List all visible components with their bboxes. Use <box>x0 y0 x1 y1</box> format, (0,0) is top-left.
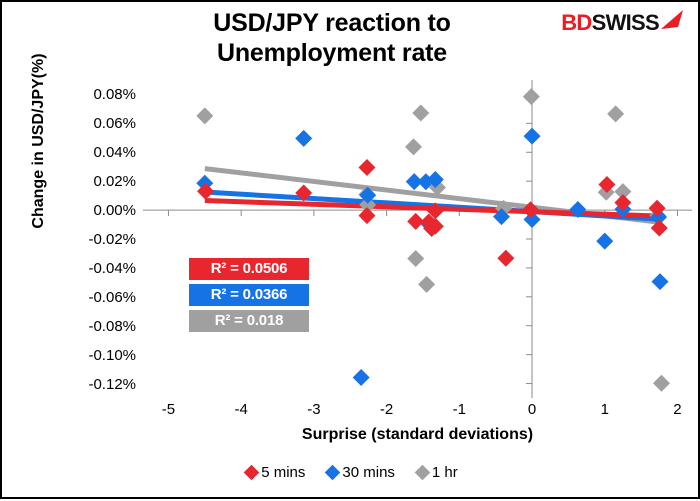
data-point <box>653 375 670 392</box>
y-tick-label: 0.06% <box>16 116 136 131</box>
y-tick-label: -0.02% <box>16 232 136 247</box>
y-tick-label: 0.00% <box>16 203 136 218</box>
x-tick-label: -1 <box>439 402 479 417</box>
logo-text-swiss: SWISS <box>592 10 659 36</box>
x-tick-label: -3 <box>294 402 334 417</box>
x-tick-label: 2 <box>657 402 697 417</box>
y-tick-label: -0.06% <box>16 290 136 305</box>
bdswiss-logo: BDSWISS <box>561 10 684 36</box>
legend-marker-icon <box>415 465 431 481</box>
arrow-swiss-icon <box>660 10 684 35</box>
data-point <box>523 88 540 105</box>
data-point <box>418 276 435 293</box>
y-tick-label: -0.10% <box>16 348 136 363</box>
legend-label: 30 mins <box>342 464 395 481</box>
series-30-mins <box>196 128 668 386</box>
data-point <box>412 104 429 121</box>
r2-box-5mins: R² = 0.0506 <box>189 258 309 280</box>
x-tick-label: -4 <box>221 402 261 417</box>
y-tick-label: 0.08% <box>16 87 136 102</box>
data-point <box>652 273 669 290</box>
x-axis-tick-labels: -5-4-3-2-1012 <box>2 402 700 424</box>
y-tick-label: 0.04% <box>16 145 136 160</box>
legend-label: 5 mins <box>261 464 305 481</box>
data-point <box>524 128 541 145</box>
y-tick-label: -0.04% <box>16 261 136 276</box>
plot-svg <box>143 80 692 398</box>
r2-box-1hr: R² = 0.018 <box>189 310 309 332</box>
chart-title-line-2: Unemployment rate <box>122 38 542 68</box>
data-point <box>295 130 312 147</box>
legend-marker-icon <box>325 465 341 481</box>
data-point <box>353 369 370 386</box>
x-tick-label: 1 <box>585 402 625 417</box>
chart-legend: 5 mins30 mins1 hr <box>2 464 700 481</box>
data-point <box>407 250 424 267</box>
plot-area <box>143 80 692 398</box>
legend-marker-icon <box>244 465 260 481</box>
y-axis-tick-labels: 0.08%0.06%0.04%0.02%0.00%-0.02%-0.04%-0.… <box>10 2 136 501</box>
y-tick-label: -0.12% <box>16 377 136 392</box>
legend-item[interactable]: 1 hr <box>417 464 458 481</box>
x-tick-label: -5 <box>148 402 188 417</box>
data-point <box>607 105 624 122</box>
data-point <box>497 250 514 267</box>
chart-title: USD/JPY reaction to Unemployment rate <box>122 8 542 68</box>
data-point <box>358 159 375 176</box>
chart-container: USD/JPY reaction to Unemployment rate BD… <box>0 0 700 499</box>
data-point <box>596 233 613 250</box>
r2-box-30mins: R² = 0.0366 <box>189 284 309 306</box>
x-axis-title: Surprise (standard deviations) <box>143 426 692 444</box>
y-tick-label: 0.02% <box>16 174 136 189</box>
legend-item[interactable]: 30 mins <box>327 464 395 481</box>
legend-label: 1 hr <box>432 464 458 481</box>
y-tick-label: -0.08% <box>16 319 136 334</box>
x-tick-label: 0 <box>512 402 552 417</box>
chart-title-line-1: USD/JPY reaction to <box>122 8 542 38</box>
data-point <box>405 138 422 155</box>
logo-text-bd: BD <box>561 10 591 36</box>
data-point <box>196 107 213 124</box>
r2-annotations: R² = 0.0506 R² = 0.0366 R² = 0.018 <box>189 258 309 336</box>
legend-item[interactable]: 5 mins <box>246 464 305 481</box>
x-tick-label: -2 <box>367 402 407 417</box>
